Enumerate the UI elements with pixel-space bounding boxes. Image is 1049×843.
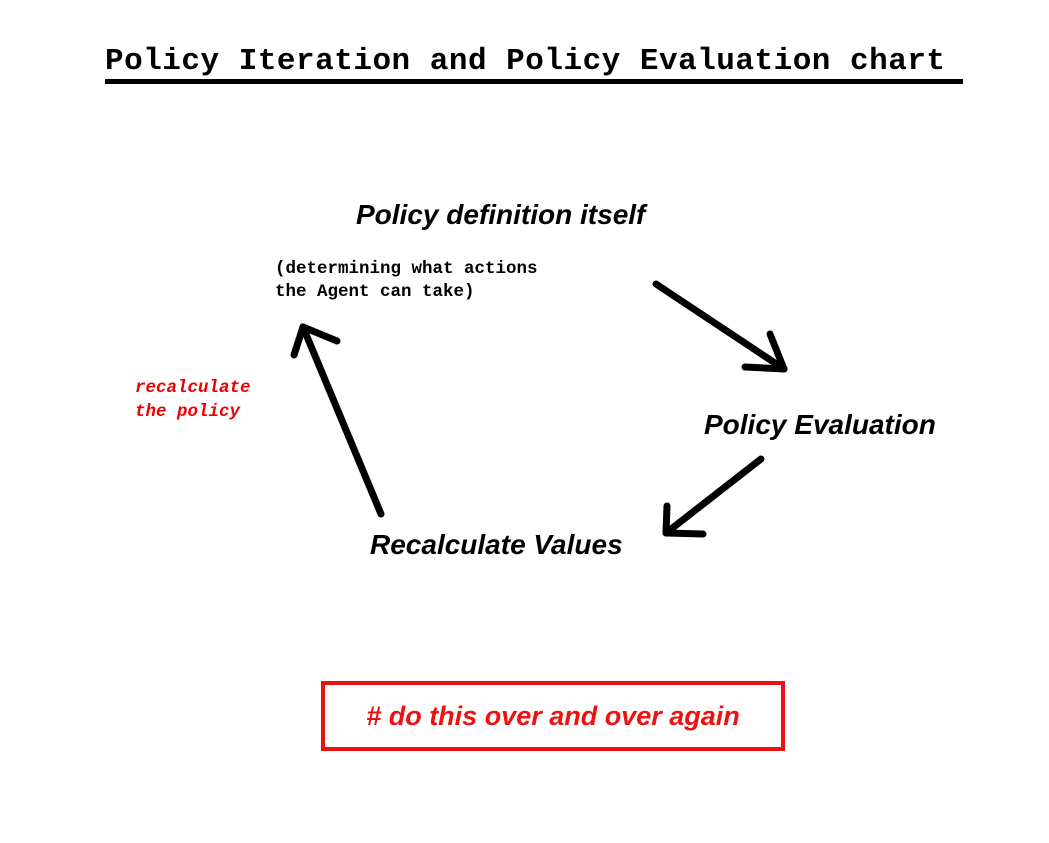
policy-definition-note: (determining what actions the Agent can … <box>275 258 538 304</box>
arrow-definition-to-evaluation-icon <box>656 284 784 369</box>
diagram-canvas: Policy Iteration and Policy Evaluation c… <box>0 0 1049 843</box>
footer-callout-box: # do this over and over again <box>321 681 785 751</box>
node-label-recalculate-values: Recalculate Values <box>370 529 623 561</box>
title-underline-rule <box>105 79 963 84</box>
page-title: Policy Iteration and Policy Evaluation c… <box>105 44 965 80</box>
node-label-policy-evaluation: Policy Evaluation <box>704 409 936 441</box>
footer-callout-text: # do this over and over again <box>366 701 740 732</box>
arrow-evaluation-to-recalculate-icon <box>666 459 761 534</box>
node-label-policy-definition: Policy definition itself <box>356 199 645 231</box>
arrow-recalculate-to-definition-icon <box>294 327 381 514</box>
recalculate-policy-note: recalculate the policy <box>135 376 251 424</box>
